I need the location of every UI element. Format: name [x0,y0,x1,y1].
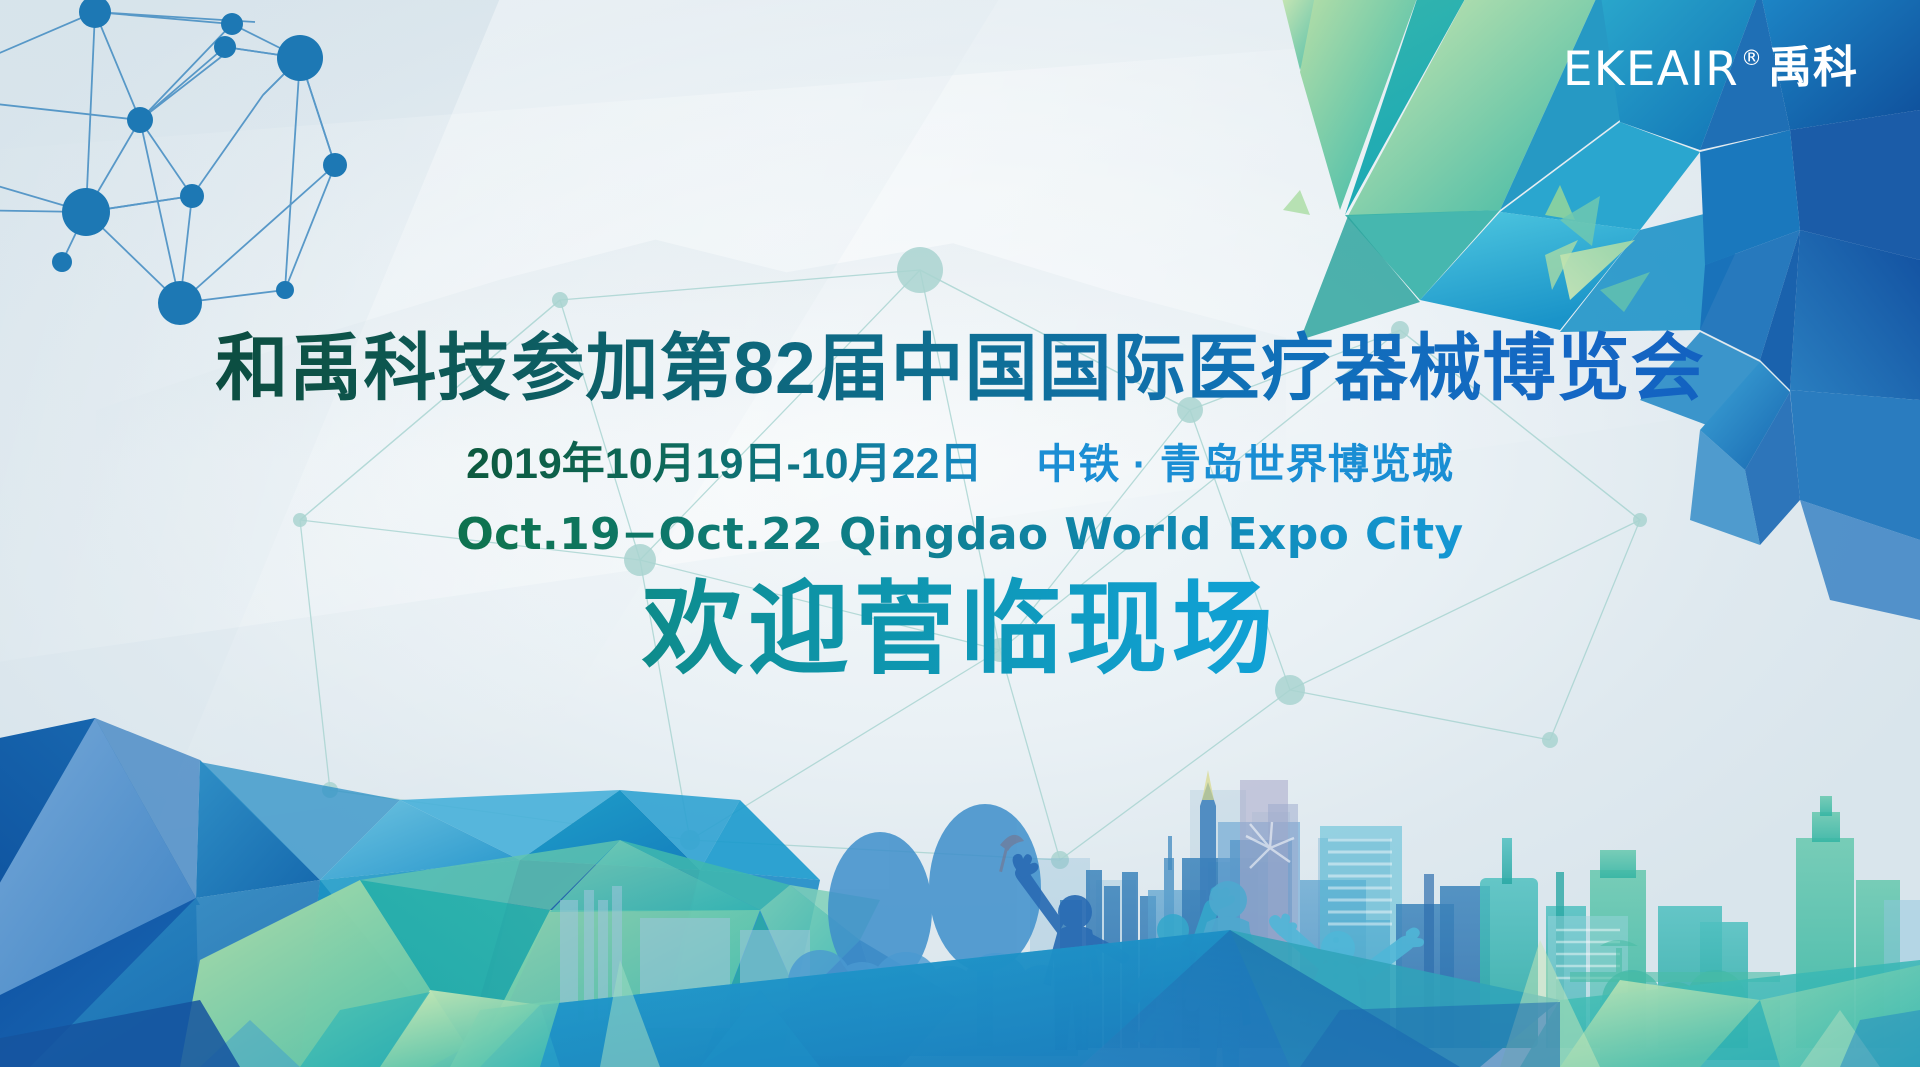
registered-trademark-icon: ® [1741,48,1762,69]
brand-logo: EKEAIR ® 禹科 [1563,46,1858,93]
event-banner: EKEAIR ® 禹科 和禹科技参加第82届中国国际医疗器械博览会 2019年1… [0,0,1920,1067]
banner-content: 和禹科技参加第82届中国国际医疗器械博览会 2019年10月19日-10月22日… [0,330,1920,687]
event-date-venue-english: Oct.19−Oct.22 Qingdao World Expo City [0,509,1920,560]
date-venue-row: 2019年10月19日-10月22日 中铁 · 青岛世界博览城 [0,429,1920,491]
logo-chinese-text: 禹科 [1768,46,1858,90]
event-venue-chinese: 中铁 · 青岛世界博览城 [1036,430,1453,490]
logo-latin-text: EKEAIR [1563,46,1739,93]
welcome-message: 欢迎菅临现场 [0,574,1920,687]
event-headline: 和禹科技参加第82届中国国际医疗器械博览会 [0,330,1920,407]
event-date-chinese: 2019年10月19日-10月22日 [466,429,982,491]
